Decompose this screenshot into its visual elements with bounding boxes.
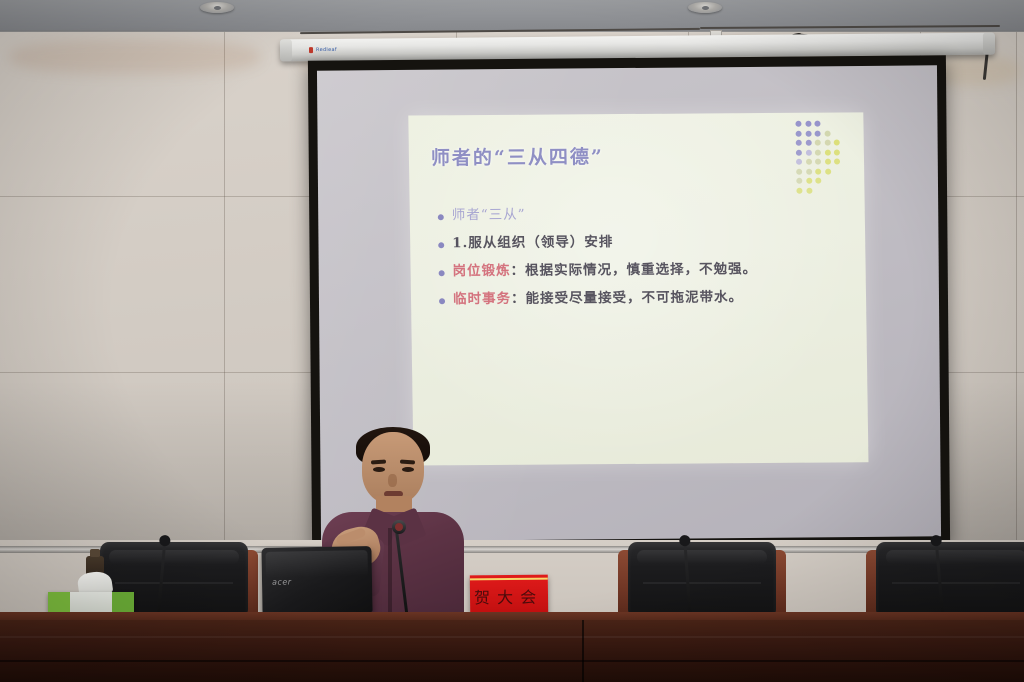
chair-seam	[892, 582, 1020, 584]
lecture-hall-photo: Redleaf 师者的“三从四德” 师者“三从” 1.	[0, 0, 1024, 682]
decoration-dot	[795, 121, 801, 127]
desk-front-panel	[0, 620, 1024, 682]
desk-seam	[582, 620, 584, 682]
decoration-dot	[825, 168, 831, 174]
laptop-lid-sheen	[266, 550, 368, 578]
decoration-dot	[796, 140, 802, 146]
decoration-dot	[824, 130, 830, 136]
bullet-lead: 临时事务	[453, 291, 511, 308]
presenter-eye	[402, 467, 414, 472]
bullet-dot-icon	[438, 214, 444, 220]
decoration-dot	[805, 149, 811, 155]
decoration-dot	[815, 178, 821, 184]
decoration-dot	[805, 121, 811, 127]
decoration-dot	[806, 178, 812, 184]
presenter-nose	[388, 474, 397, 487]
bottle-cap	[90, 549, 100, 557]
nameplate-text: 贺 大 会	[474, 584, 544, 611]
decoration-dot	[796, 168, 802, 174]
chair-backrest	[628, 542, 776, 614]
bullet-lead: 岗位锻炼	[452, 263, 510, 280]
chair-seam	[643, 582, 761, 584]
chair-backrest	[876, 542, 1024, 614]
decoration-dot	[815, 159, 821, 165]
chair-highlight	[109, 550, 239, 564]
roller-brand-label: Redleaf	[316, 46, 366, 54]
decoration-dot	[834, 159, 840, 165]
decoration-dot	[815, 140, 821, 146]
bullet-lead: 师者“三从”	[452, 207, 526, 225]
decoration-dot	[824, 159, 830, 165]
bullet-dot-icon	[439, 298, 445, 304]
bullet-lead: 1.	[452, 235, 468, 252]
decoration-dot	[796, 130, 802, 136]
decoration-dot	[815, 149, 821, 155]
sprinkler-icon	[688, 2, 722, 13]
dot-matrix-corner-graphic	[795, 120, 850, 198]
decoration-dot	[796, 159, 802, 165]
sprinkler-icon	[200, 2, 234, 13]
bullet-dot-icon	[439, 270, 445, 276]
chair-highlight	[886, 550, 1024, 564]
decoration-dot	[805, 140, 811, 146]
decoration-dot	[815, 168, 821, 174]
red-nameplate-box[interactable]: 贺 大 会	[470, 575, 548, 616]
roller-end-cap	[280, 39, 292, 61]
decoration-dot	[806, 168, 812, 174]
tissue-box[interactable]	[48, 592, 134, 614]
tissue-box-green-panel	[48, 592, 70, 614]
decoration-dot	[796, 178, 802, 184]
projected-slide: 师者的“三从四德” 师者“三从” 1. 服从组织（领导）安排 岗	[408, 112, 868, 465]
chair-highlight	[637, 550, 767, 564]
presenter-shirt-placket	[388, 528, 392, 620]
decoration-dot	[834, 149, 840, 155]
chair-center[interactable]	[628, 542, 776, 616]
nameplate-gold-stripe	[470, 578, 548, 581]
tissue-box-green-panel	[112, 592, 134, 614]
list-item: 1. 服从组织（领导）安排	[438, 232, 855, 252]
decoration-dot	[805, 159, 811, 165]
decoration-dot	[796, 187, 802, 193]
list-item: 岗位锻炼 ：根据实际情况，慎重选择，不勉强。	[438, 260, 855, 280]
decoration-dot	[796, 149, 802, 155]
desk-seam	[0, 636, 1024, 638]
decoration-dot	[805, 130, 811, 136]
decoration-dot	[806, 187, 812, 193]
bullet-rest: ：根据实际情况，慎重选择，不勉强。	[510, 261, 757, 280]
decoration-dot	[834, 140, 840, 146]
list-item: 临时事务 ：能接受尽量接受，不可拖泥带水。	[439, 288, 856, 308]
laptop[interactable]: acer	[261, 546, 372, 614]
bullet-rest: 服从组织（领导）安排	[468, 234, 613, 252]
slide-bullet-list: 师者“三从” 1. 服从组织（领导）安排 岗位锻炼 ：根据实际情况，慎重选择，不…	[438, 204, 857, 319]
decoration-dot	[815, 130, 821, 136]
presenter-eye	[373, 467, 385, 472]
list-item: 师者“三从”	[438, 204, 855, 224]
mic-presenter-head-icon	[392, 520, 406, 534]
slide-title: 师者的“三从四德”	[431, 142, 604, 170]
roller-end-cap	[983, 33, 995, 55]
laptop-brand-label: acer	[272, 577, 292, 586]
decoration-dot	[824, 140, 830, 146]
chair-seam	[115, 582, 233, 584]
chair-right[interactable]	[876, 542, 1024, 616]
decoration-dot	[814, 121, 820, 127]
decoration-dot	[824, 149, 830, 155]
desk-seam	[0, 660, 1024, 662]
bullet-rest: ：能接受尽量接受，不可拖泥带水。	[511, 289, 743, 308]
bullet-dot-icon	[438, 242, 444, 248]
